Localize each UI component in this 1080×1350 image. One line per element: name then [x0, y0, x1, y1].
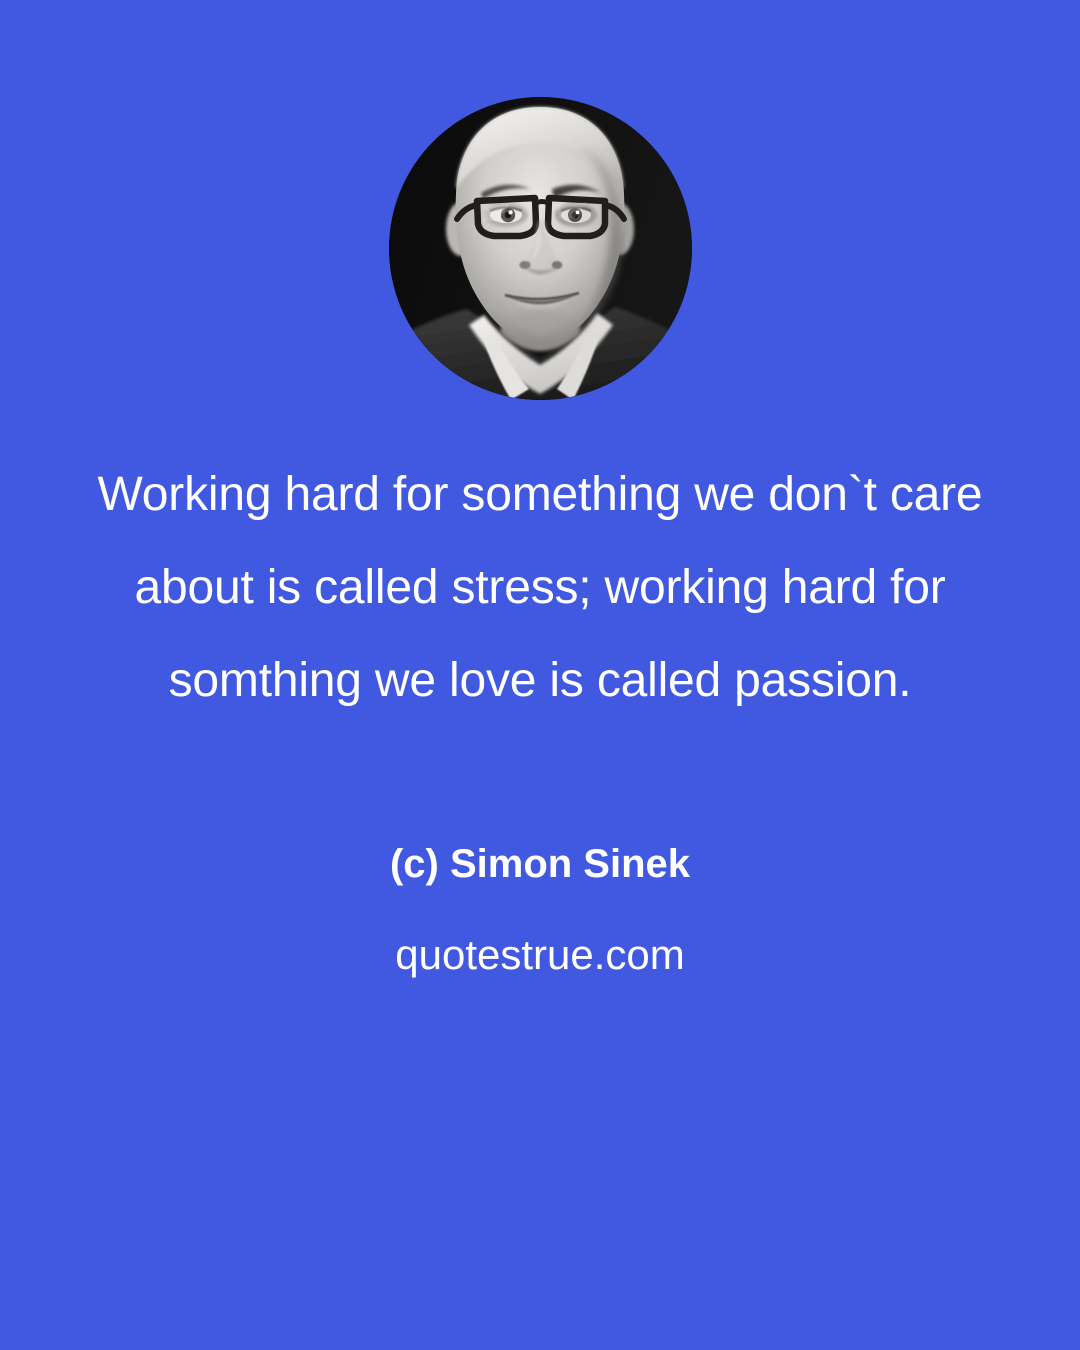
quote-text: Working hard for something we don`t care…: [90, 448, 990, 727]
author-portrait-photo: [389, 97, 692, 400]
source-website: quotestrue.com: [0, 928, 1080, 982]
author-attribution: (c) Simon Sinek: [0, 838, 1080, 890]
quote-card: Working hard for something we don`t care…: [0, 0, 1080, 1350]
portrait-illustration: [389, 97, 692, 400]
